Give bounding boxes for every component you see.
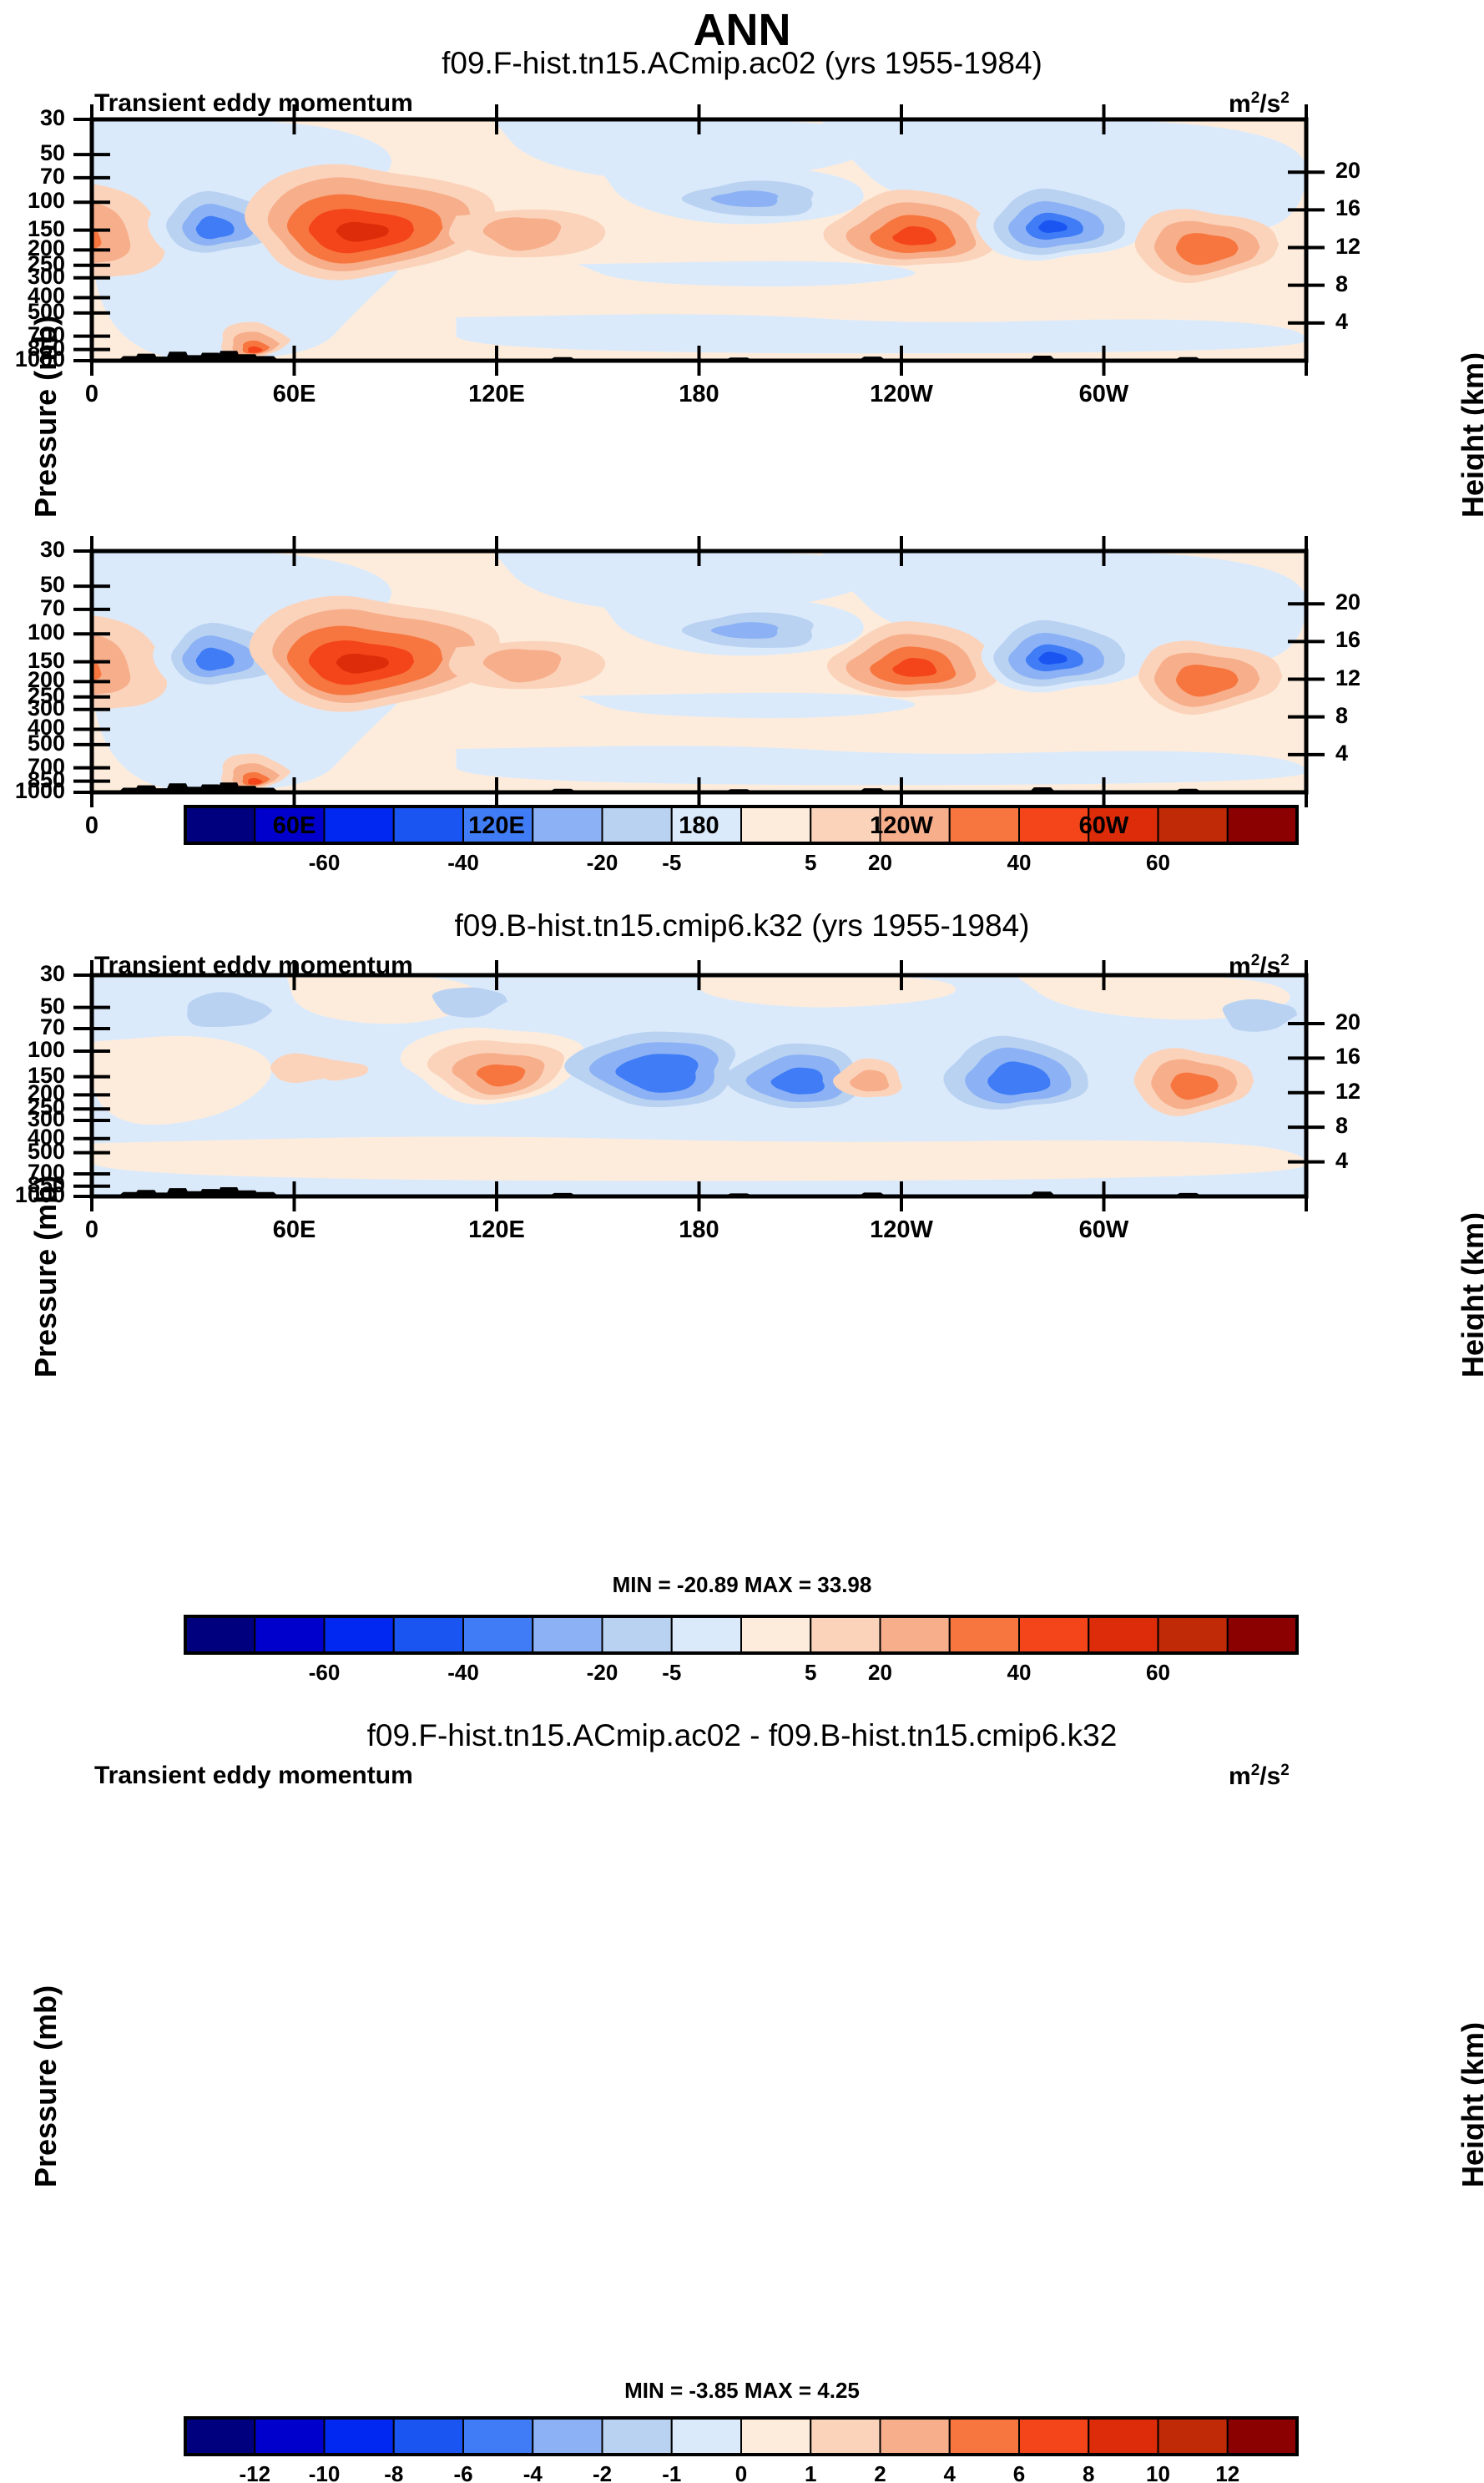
colorbar-swatch: [1228, 2418, 1297, 2455]
colorbar-swatch: [672, 1616, 741, 1653]
lon-tick-label: 120W: [835, 1216, 968, 1244]
lon-tick-label: 60W: [1037, 812, 1171, 840]
height-tick-label: 4: [1335, 741, 1348, 766]
height-tick-label: 8: [1335, 271, 1348, 297]
colorbar-swatch: [325, 2418, 394, 2455]
lon-tick-label: 120E: [430, 812, 563, 840]
pressure-tick-label: 500: [0, 731, 65, 756]
panel-3-units-label: m2/s2: [1229, 1762, 1290, 1791]
colorbar-swatch: [741, 2418, 810, 2455]
colorbar-swatch: [1228, 1616, 1297, 1653]
lon-tick-label: 60E: [228, 812, 361, 840]
panel-1-title: f09.F-hist.tn15.ACmip.ac02 (yrs 1955-198…: [0, 46, 1484, 81]
pressure-tick-label: 30: [0, 105, 65, 131]
colorbar-tick-label: 12: [1178, 2461, 1278, 2483]
height-tick-label: 4: [1335, 309, 1348, 335]
lon-tick-label: 0: [25, 381, 159, 408]
pressure-tick-label: 50: [0, 572, 65, 598]
height-tick-label: 8: [1335, 703, 1348, 729]
height-tick-label: 16: [1335, 627, 1360, 653]
colorbar-swatch: [394, 2418, 463, 2455]
colorbar-tick-label: 20: [830, 1660, 931, 1686]
pressure-tick-label: 70: [0, 595, 65, 621]
colorbar-swatch: [603, 1616, 672, 1653]
colorbar-swatch: [463, 2418, 533, 2455]
colorbar-swatch: [881, 1616, 950, 1653]
colorbar-panel3: -12-10-8-6-4-2-10124681012: [0, 2413, 1484, 2483]
lon-tick-label: 180: [633, 1216, 766, 1244]
colorbar-swatch: [603, 2418, 672, 2455]
colorbar-tick-label: 60: [1108, 1660, 1209, 1686]
panel-3: f09.F-hist.tn15.ACmip.ac02 - f09.B-hist.…: [0, 1695, 1484, 2483]
height-tick-label: 20: [1335, 589, 1360, 615]
height-tick-label: 16: [1335, 195, 1360, 221]
pressure-tick-label: 70: [0, 164, 65, 190]
colorbar-swatch: [1019, 1616, 1088, 1653]
pressure-tick-label: 100: [0, 619, 65, 645]
panel-3-minmax: MIN = -3.85 MAX = 4.25: [0, 2378, 1484, 2404]
height-tick-label: 12: [1335, 1079, 1360, 1105]
units-sup-1: 2: [1251, 1762, 1260, 1779]
pressure-tick-label: 100: [0, 1037, 65, 1063]
colorbar-swatch: [1158, 2418, 1228, 2455]
contour-region: [92, 1136, 1306, 1181]
colorbar-tick-label: -5: [622, 1660, 722, 1686]
pressure-tick-label: 30: [0, 537, 65, 563]
height-tick-label: 12: [1335, 234, 1360, 260]
lon-tick-label: 60E: [228, 1216, 361, 1244]
pressure-tick-label: 1000: [0, 1182, 65, 1208]
pressure-tick-label: 50: [0, 140, 65, 166]
colorbar-panel2-svg: [0, 1611, 1484, 1691]
colorbar-swatch: [394, 1616, 463, 1653]
panel-3-variable-label: Transient eddy momentum: [94, 1762, 413, 1790]
lon-tick-label: 120W: [835, 381, 968, 408]
lon-tick-label: 60W: [1037, 1216, 1171, 1244]
panel-3-left-axis-title: Pressure (mb): [28, 1985, 63, 2187]
colorbar-swatch: [1088, 1616, 1158, 1653]
colorbar-swatch: [1158, 1616, 1228, 1653]
units-sup-2: 2: [1280, 1762, 1290, 1779]
colorbar-swatch: [255, 2418, 324, 2455]
lon-tick-label: 0: [25, 812, 159, 840]
lon-tick-label: 120E: [430, 381, 563, 408]
lon-tick-label: 180: [633, 812, 766, 840]
colorbar-swatch: [950, 1616, 1019, 1653]
lon-tick-label: 60E: [228, 381, 361, 408]
colorbar-swatch: [255, 1616, 324, 1653]
colorbar-swatch: [1088, 2418, 1158, 2455]
units-mid: /s: [1259, 1762, 1280, 1790]
colorbar-swatch: [810, 2418, 880, 2455]
height-tick-label: 20: [1335, 1009, 1360, 1035]
height-tick-label: 8: [1335, 1113, 1348, 1139]
colorbar-swatch: [1019, 2418, 1088, 2455]
height-tick-label: 12: [1335, 665, 1360, 691]
pressure-tick-label: 30: [0, 961, 65, 987]
units-base: m: [1229, 1762, 1251, 1790]
pressure-tick-label: 1000: [0, 778, 65, 804]
colorbar-swatch: [881, 2418, 950, 2455]
colorbar-swatch: [185, 2418, 255, 2455]
colorbar-swatch: [325, 1616, 394, 1653]
lon-tick-label: 0: [25, 1216, 159, 1244]
panel-3-title: f09.F-hist.tn15.ACmip.ac02 - f09.B-hist.…: [0, 1718, 1484, 1753]
lon-tick-label: 180: [633, 381, 766, 408]
contour-field: [92, 975, 1306, 1196]
lon-tick-label: 120E: [430, 1216, 563, 1244]
figure-root: ANN f09.F-hist.tn15.ACmip.ac02 (yrs 1955…: [0, 0, 1484, 2483]
colorbar-swatch: [463, 1616, 533, 1653]
panel-2-minmax: MIN = -20.89 MAX = 33.98: [0, 1572, 1484, 1598]
height-tick-label: 16: [1335, 1044, 1360, 1070]
colorbar-tick-label: -40: [413, 1660, 513, 1686]
colorbar-swatch: [950, 2418, 1019, 2455]
colorbar-tick-label: -60: [275, 1660, 375, 1686]
colorbar-swatch: [672, 2418, 741, 2455]
colorbar-panel2: -60-40-20-55204060: [0, 1611, 1484, 1691]
pressure-tick-label: 1000: [0, 346, 65, 372]
colorbar-tick-label: 40: [969, 1660, 1069, 1686]
colorbar-swatch: [533, 1616, 602, 1653]
lon-tick-label: 60W: [1037, 381, 1171, 408]
height-tick-label: 4: [1335, 1148, 1348, 1174]
colorbar-swatch: [810, 1616, 880, 1653]
pressure-tick-label: 500: [0, 299, 65, 325]
colorbar-swatch: [185, 1616, 255, 1653]
colorbar-swatch: [533, 2418, 602, 2455]
panel-3-right-axis-title: Height (km): [1456, 2022, 1484, 2187]
lon-tick-label: 120W: [835, 812, 968, 840]
colorbar-swatch: [741, 1616, 810, 1653]
height-tick-label: 20: [1335, 158, 1360, 184]
pressure-tick-label: 100: [0, 188, 65, 214]
